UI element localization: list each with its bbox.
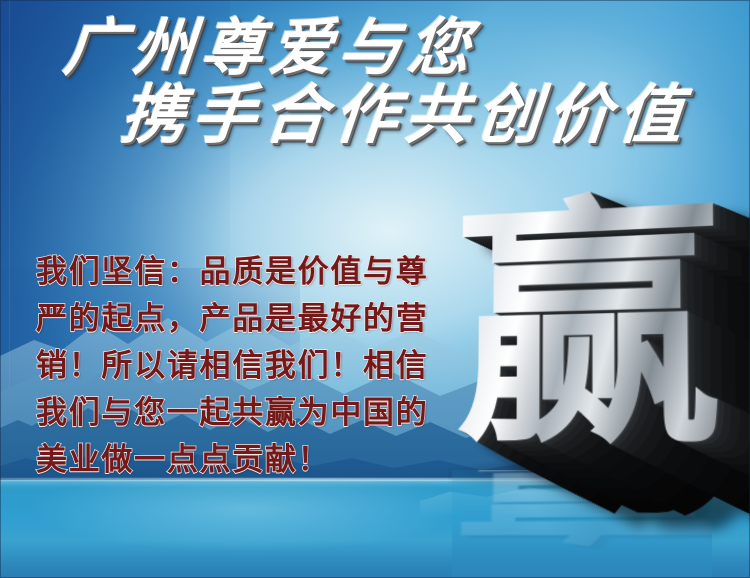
mountain-range-svg [0,260,750,500]
water-shimmer-overlay [0,480,750,578]
promotional-banner: 赢 赢 广州尊爱与您 携手合作共创价值 我们坚信：品质是价值与尊 严的起点，产品… [0,0,750,578]
mountain-range-illustration [0,260,750,500]
sky-glow-top-right [450,0,750,240]
